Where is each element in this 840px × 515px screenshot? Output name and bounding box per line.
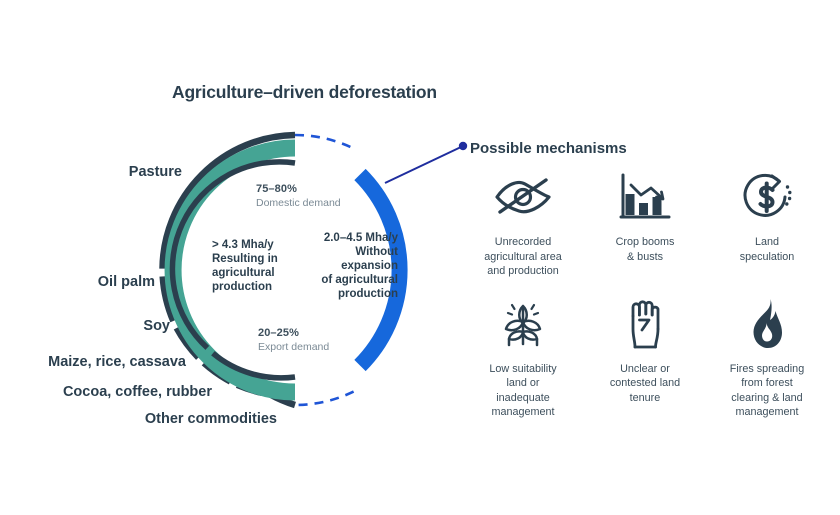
seedling-icon — [492, 295, 554, 353]
mechanism-caption: Land speculation — [740, 235, 795, 264]
mechanisms-heading: Possible mechanisms — [470, 140, 627, 157]
commodity-label-cocoa-coffee-rubber[interactable]: Cocoa, coffee, rubber — [0, 384, 212, 400]
mechanism-caption: Fires spreading from forest clearing & l… — [730, 362, 804, 420]
export-demand-label: Export demand — [258, 340, 329, 354]
dashed-arc-bottom — [295, 392, 354, 405]
dollar-cycle-icon — [736, 168, 798, 226]
without-expansion-stat: 2.0–4.5 Mha/y Without expansion of agric… — [200, 231, 398, 301]
domestic-demand-value: 75–80% — [256, 182, 341, 196]
mechanism-card-fires-spreading[interactable]: Fires spreading from forest clearing & l… — [706, 295, 828, 420]
commodity-label-other-commodities[interactable]: Other commodities — [0, 411, 277, 427]
commodity-label-pasture[interactable]: Pasture — [0, 164, 182, 180]
dashed-arc-top — [295, 135, 354, 148]
eye-slash-icon — [492, 168, 554, 226]
raised-fist-icon — [614, 295, 676, 353]
commodity-label-maize-rice-cassava[interactable]: Maize, rice, cassava — [0, 354, 186, 370]
mechanism-caption: Crop booms & busts — [616, 235, 675, 264]
export-demand-value: 20–25% — [258, 326, 329, 340]
domestic-demand-label: Domestic demand — [256, 196, 341, 210]
mechanism-card-unrecorded-area[interactable]: Unrecorded agricultural area and product… — [462, 168, 584, 279]
mechanism-card-low-suitability-land[interactable]: Low suitability land or inadequate manag… — [462, 295, 584, 420]
mechanism-caption: Low suitability land or inadequate manag… — [489, 362, 556, 420]
commodity-label-oil-palm[interactable]: Oil palm — [0, 274, 155, 290]
export-demand-callout: 20–25% Export demand — [258, 326, 329, 354]
mechanism-card-crop-booms-busts[interactable]: Crop booms & busts — [584, 168, 706, 279]
infographic-canvas: Agriculture–driven deforestation — [0, 0, 840, 515]
mechanism-caption: Unrecorded agricultural area and product… — [484, 235, 561, 279]
bar-chart-decline-icon — [614, 168, 676, 226]
commodity-label-soy[interactable]: Soy — [0, 318, 170, 334]
leader-endpoint-dot — [459, 142, 467, 150]
domestic-demand-callout: 75–80% Domestic demand — [256, 182, 341, 210]
mechanism-card-land-speculation[interactable]: Land speculation — [706, 168, 828, 279]
mechanisms-grid: Unrecorded agricultural area and product… — [462, 168, 828, 420]
mechanism-card-contested-tenure[interactable]: Unclear or contested land tenure — [584, 295, 706, 420]
flame-icon — [736, 295, 798, 353]
page-title: Agriculture–driven deforestation — [172, 82, 437, 103]
mechanism-caption: Unclear or contested land tenure — [610, 362, 680, 406]
